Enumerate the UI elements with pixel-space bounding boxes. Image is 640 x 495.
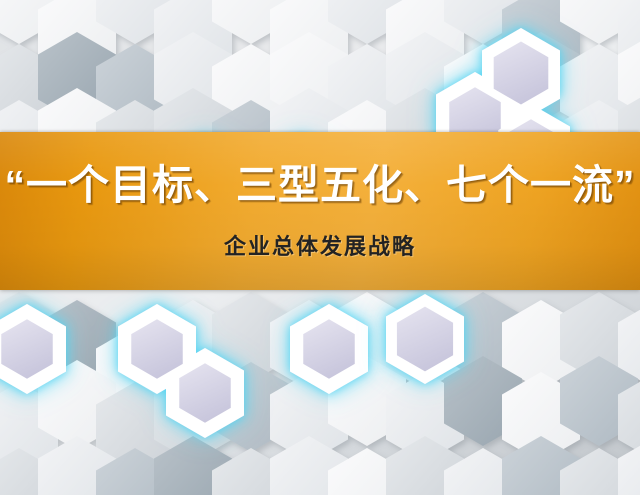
banner-title: “一个目标、三型五化、七个一流” xyxy=(5,163,636,207)
slide-canvas: “一个目标、三型五化、七个一流” 企业总体发展战略 xyxy=(0,0,640,495)
title-banner: “一个目标、三型五化、七个一流” 企业总体发展战略 xyxy=(0,132,640,290)
banner-subtitle: 企业总体发展战略 xyxy=(224,229,416,261)
